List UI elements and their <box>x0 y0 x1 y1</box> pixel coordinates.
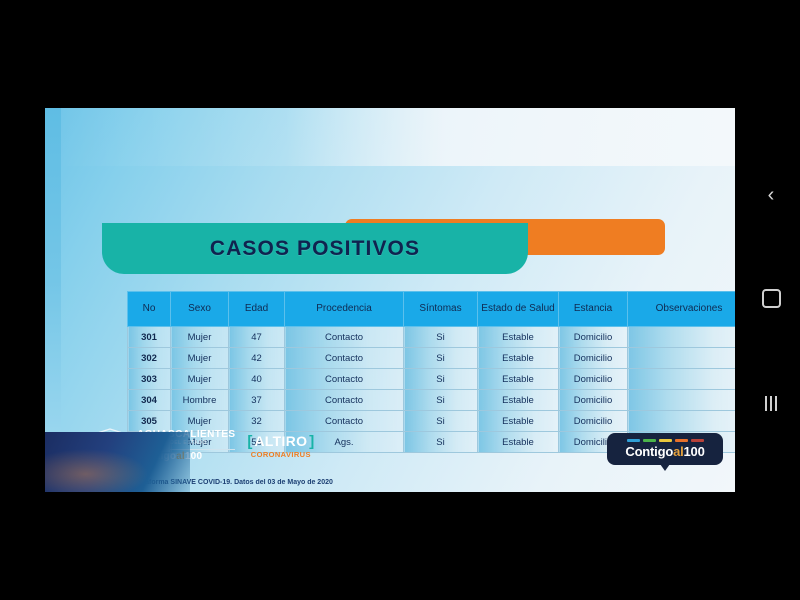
cell-estancia: Domicilio <box>559 369 628 390</box>
cell-no: 303 <box>128 369 171 390</box>
table-header: No Sexo Edad Procedencia Síntomas Estado… <box>128 292 736 327</box>
slogan-al: al <box>176 451 185 462</box>
cell-observaciones <box>628 390 736 411</box>
cell-sintomas: Si <box>404 411 478 432</box>
cell-estancia: Domicilio <box>559 327 628 348</box>
cell-sintomas: Si <box>404 348 478 369</box>
cell-estado: Estable <box>478 327 559 348</box>
source-footnote: FUENTE: Plataforma SINAVE COVID-19. Dato… <box>100 479 333 486</box>
table-header-row: No Sexo Edad Procedencia Síntomas Estado… <box>128 292 736 327</box>
cell-edad: 42 <box>229 348 285 369</box>
cell-sexo: Mujer <box>171 369 229 390</box>
cell-sintomas: Si <box>404 390 478 411</box>
cell-estancia: Domicilio <box>559 390 628 411</box>
home-button[interactable] <box>742 275 800 321</box>
cell-no: 301 <box>128 327 171 348</box>
cell-procedencia: Contacto <box>285 327 404 348</box>
chevron-left-icon: ‹ <box>768 185 775 205</box>
phone-screen: CASOS POSITIVOS No Sexo Edad Procedencia… <box>0 0 800 600</box>
altiro-coronavirus-badge: [ ALTIRO ] CORONAVIRUS <box>247 432 314 461</box>
bubble-dash <box>643 439 656 442</box>
title-banner: CASOS POSITIVOS <box>102 223 528 274</box>
cell-estancia: Domicilio <box>559 348 628 369</box>
column-header-sexo: Sexo <box>171 292 229 327</box>
slogan-100: 100 <box>185 451 202 462</box>
contigo-al-100-logo: Contigoal100 <box>607 433 723 465</box>
government-wordmark: AGUASCALIENTES GOBIERNO DEL ESTADO Conti… <box>137 430 235 462</box>
cell-edad: 40 <box>229 369 285 390</box>
government-subtitle: GOBIERNO DEL ESTADO <box>137 441 235 446</box>
altiro-word: ALTIRO <box>254 434 307 448</box>
aguascalientes-coat-of-arms-icon <box>95 428 125 464</box>
altiro-row: [ ALTIRO ] <box>247 434 314 449</box>
cell-procedencia: Contacto <box>285 369 404 390</box>
cell-estado: Estable <box>478 369 559 390</box>
column-header-procedencia: Procedencia <box>285 292 404 327</box>
government-slogan: Contigoal100 <box>137 452 235 462</box>
cell-estado: Estable <box>478 390 559 411</box>
cell-observaciones <box>628 411 736 432</box>
cell-no: 304 <box>128 390 171 411</box>
table-row: 302Mujer42ContactoSiEstableDomicilio <box>128 348 736 369</box>
cell-sexo: Mujer <box>171 348 229 369</box>
recents-bars-icon <box>765 396 777 411</box>
cell-observaciones <box>628 348 736 369</box>
table-row: 304Hombre37ContactoSiEstableDomicilio <box>128 390 736 411</box>
cell-edad: 47 <box>229 327 285 348</box>
cell-sintomas: Si <box>404 432 478 453</box>
cell-estado: Estable <box>478 411 559 432</box>
column-header-sintomas: Síntomas <box>404 292 478 327</box>
column-header-no: No <box>128 292 171 327</box>
altiro-bracket-left-icon: [ <box>247 434 252 449</box>
table-row: 303Mujer40ContactoSiEstableDomicilio <box>128 369 736 390</box>
cell-observaciones <box>628 369 736 390</box>
cell-sintomas: Si <box>404 327 478 348</box>
page-title: CASOS POSITIVOS <box>210 237 420 261</box>
column-header-edad: Edad <box>229 292 285 327</box>
cell-sexo: Hombre <box>171 390 229 411</box>
cell-estado: Estable <box>478 348 559 369</box>
recent-apps-button[interactable] <box>742 380 800 426</box>
bubble-100: 100 <box>684 444 705 459</box>
government-name: AGUASCALIENTES <box>137 430 235 440</box>
back-button[interactable]: ‹ <box>742 172 800 218</box>
cell-estancia: Domicilio <box>559 411 628 432</box>
table-row: 301Mujer47ContactoSiEstableDomicilio <box>128 327 736 348</box>
column-header-estado-salud: Estado de Salud <box>478 292 559 327</box>
bubble-contigo: Contigo <box>625 444 673 459</box>
bubble-color-dashes <box>627 439 704 442</box>
cell-observaciones <box>628 327 736 348</box>
cell-procedencia: Contacto <box>285 348 404 369</box>
bubble-dash <box>659 439 672 442</box>
cell-sexo: Mujer <box>171 327 229 348</box>
bubble-text: Contigoal100 <box>625 444 704 459</box>
android-navigation-bar: ‹ <box>742 0 800 600</box>
bubble-dash <box>691 439 704 442</box>
slogan-contigo: Contigo <box>137 451 176 462</box>
presentation-slide: CASOS POSITIVOS No Sexo Edad Procedencia… <box>45 108 735 492</box>
altiro-subtitle: CORONAVIRUS <box>251 451 311 459</box>
slide-top-band <box>45 108 735 166</box>
slide-left-accent-strip <box>45 108 61 492</box>
column-header-estancia: Estancia <box>559 292 628 327</box>
wordmark-divider <box>137 449 235 450</box>
cell-edad: 37 <box>229 390 285 411</box>
bubble-dash <box>675 439 688 442</box>
cell-no: 302 <box>128 348 171 369</box>
bubble-dash <box>627 439 640 442</box>
cell-estado: Estable <box>478 432 559 453</box>
cell-procedencia: Contacto <box>285 390 404 411</box>
altiro-bracket-right-icon: ] <box>309 434 314 449</box>
bubble-al: al <box>673 444 683 459</box>
cell-sintomas: Si <box>404 369 478 390</box>
column-header-observaciones: Observaciones <box>628 292 736 327</box>
home-square-icon <box>762 289 781 308</box>
footer-logo-group: AGUASCALIENTES GOBIERNO DEL ESTADO Conti… <box>95 428 314 464</box>
